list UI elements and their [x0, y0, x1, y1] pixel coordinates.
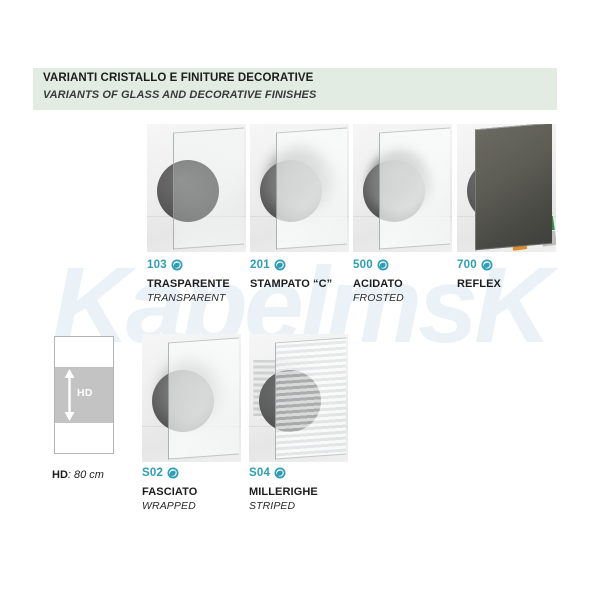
- finish-subtitle: FROSTED: [353, 292, 473, 304]
- drop-swirl-icon: [171, 259, 183, 271]
- glass-pane: [379, 128, 450, 250]
- drop-swirl-icon: [274, 259, 286, 271]
- finish-photo-printed-c: [250, 124, 349, 252]
- section-header-band: VARIANTI CRISTALLO E FINITURE DECORATIVE…: [33, 68, 557, 110]
- finish-code-row: 700: [457, 258, 577, 272]
- finish-code-row: 103: [147, 258, 267, 272]
- drop-swirl-icon: [167, 467, 179, 479]
- glass-pane: [173, 128, 244, 250]
- finish-code-row: 500: [353, 258, 473, 272]
- drop-swirl-icon: [481, 259, 493, 271]
- finish-tile-201[interactable]: [250, 124, 349, 252]
- finish-photo-frosted: [353, 124, 452, 252]
- hd-double-arrow-icon: [64, 369, 75, 421]
- finish-code: S02: [142, 467, 163, 479]
- finish-caption-s04: S04 MILLERIGHE STRIPED: [249, 466, 369, 512]
- finish-name: MILLERIGHE: [249, 486, 369, 498]
- drop-swirl-icon: [274, 467, 286, 479]
- frost-overlay: [380, 129, 450, 250]
- glass-pane: [276, 128, 347, 250]
- finish-code-row: S02: [142, 466, 262, 480]
- finish-code: 700: [457, 259, 477, 271]
- finish-caption-201: 201 STAMPATO “C”: [250, 258, 370, 292]
- finish-caption-103: 103 TRASPARENTE TRANSPARENT: [147, 258, 267, 304]
- hd-arrow-label: HD: [77, 387, 93, 399]
- finish-subtitle: STRIPED: [249, 500, 369, 512]
- glass-pane: [168, 338, 239, 460]
- frost-overlay: [169, 339, 239, 460]
- hd-caption: HD: 80 cm: [52, 469, 104, 481]
- finish-name: FASCIATO: [142, 486, 262, 498]
- finish-caption-700: 700 REFLEX: [457, 258, 577, 292]
- finish-caption-s02: S02 FASCIATO WRAPPED: [142, 466, 262, 512]
- finish-photo-striped: [249, 334, 348, 462]
- finish-code: 500: [353, 259, 373, 271]
- finish-tile-s02[interactable]: [142, 334, 241, 462]
- finish-tile-500[interactable]: [353, 124, 452, 252]
- hd-caption-bold: HD: [52, 469, 68, 481]
- finish-photo-reflex: [457, 124, 556, 252]
- finish-caption-500: 500 ACIDATO FROSTED: [353, 258, 473, 304]
- page-subtitle: VARIANTS OF GLASS AND DECORATIVE FINISHE…: [43, 89, 316, 101]
- drop-swirl-icon: [377, 259, 389, 271]
- frost-overlay: [277, 129, 347, 250]
- finish-photo-transparent: [147, 124, 246, 252]
- finish-code-row: 201: [250, 258, 370, 272]
- finish-name: ACIDATO: [353, 278, 473, 290]
- stripe-overlay: [276, 339, 346, 460]
- finish-subtitle: TRANSPARENT: [147, 292, 267, 304]
- glass-pane: [275, 338, 346, 460]
- page-title: VARIANTI CRISTALLO E FINITURE DECORATIVE: [43, 72, 313, 84]
- finish-tile-700[interactable]: [457, 124, 556, 252]
- finish-subtitle: WRAPPED: [142, 500, 262, 512]
- finish-code: 103: [147, 259, 167, 271]
- finish-name: STAMPATO “C”: [250, 278, 370, 290]
- glass-pane: [475, 124, 552, 250]
- finish-name: TRASPARENTE: [147, 278, 267, 290]
- finish-tile-103[interactable]: [147, 124, 246, 252]
- hd-caption-value: : 80 cm: [68, 469, 104, 481]
- finish-photo-wrapped: [142, 334, 241, 462]
- finish-name: REFLEX: [457, 278, 577, 290]
- finish-code-row: S04: [249, 466, 369, 480]
- finish-code: S04: [249, 467, 270, 479]
- finish-tile-s04[interactable]: [249, 334, 348, 462]
- finish-code: 201: [250, 259, 270, 271]
- hd-dimension-diagram: HD: [54, 336, 114, 454]
